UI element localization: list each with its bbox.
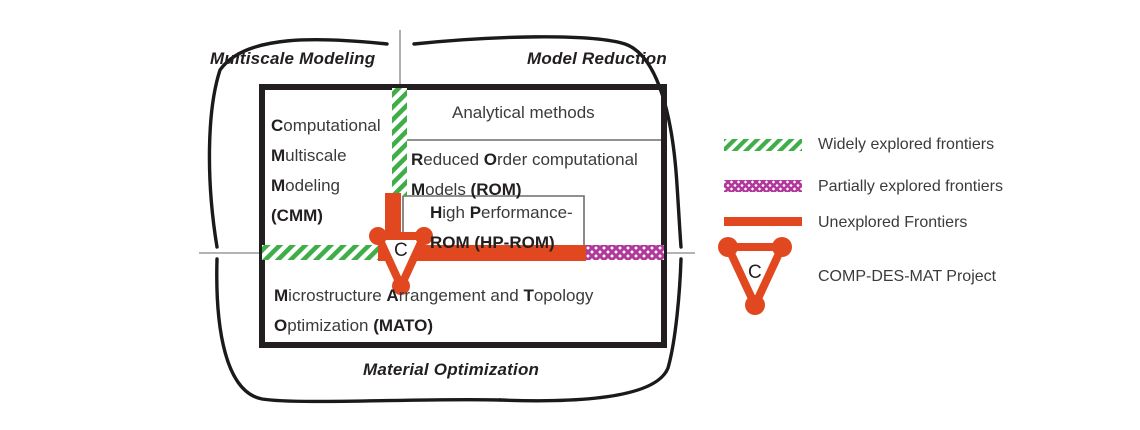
figure-canvas: Multiscale Modeling Model Reduction Mate… (0, 0, 1140, 430)
cell-rom: Reduced Order computational Models (ROM) (411, 145, 638, 205)
green-frontier-vertical (392, 88, 407, 196)
legend-triangle-letter: C (748, 262, 762, 284)
legend-label-partially-explored: Partially explored frontiers (818, 178, 1003, 196)
legend-label-widely-explored: Widely explored frontiers (818, 136, 994, 154)
green-hatch-swatch (724, 139, 802, 151)
center-node-letter: C (394, 240, 408, 262)
red-bar-swatch (724, 217, 802, 226)
cell-hp-rom: High Performance- ROM (HP-ROM) (430, 198, 573, 258)
cell-cmm-line-4: (CMM) (271, 201, 391, 231)
quadrant-label-material-optimization: Material Optimization (363, 360, 539, 380)
purple-frontier-horizontal (584, 245, 664, 260)
cell-hp-rom-line-2: ROM (HP-ROM) (430, 228, 573, 258)
cell-mato-line-2: Optimization (MATO) (274, 311, 593, 341)
cell-cmm-line-1: Computational (271, 111, 391, 141)
quadrant-label-model-reduction: Model Reduction (527, 49, 667, 69)
cell-rom-line-1: Reduced Order computational (411, 145, 638, 175)
legend-label-unexplored: Unexplored Frontiers (818, 214, 967, 232)
cell-cmm-line-3: Modeling (271, 171, 391, 201)
legend-label-comp-des-mat-project: COMP-DES-MAT Project (818, 268, 996, 286)
quadrant-label-multiscale-modeling: Multiscale Modeling (210, 49, 375, 69)
cell-mato: Microstructure Arrangement and Topology … (274, 281, 593, 341)
cell-hp-rom-line-1: High Performance- (430, 198, 573, 228)
green-frontier-horizontal (262, 245, 384, 260)
cell-mato-line-1: Microstructure Arrangement and Topology (274, 281, 593, 311)
cell-cmm: Computational Multiscale Modeling (CMM) (271, 111, 391, 231)
cell-cmm-line-2: Multiscale (271, 141, 391, 171)
cell-analytical-methods: Analytical methods (452, 103, 595, 123)
purple-crosshatch-swatch (724, 180, 802, 192)
